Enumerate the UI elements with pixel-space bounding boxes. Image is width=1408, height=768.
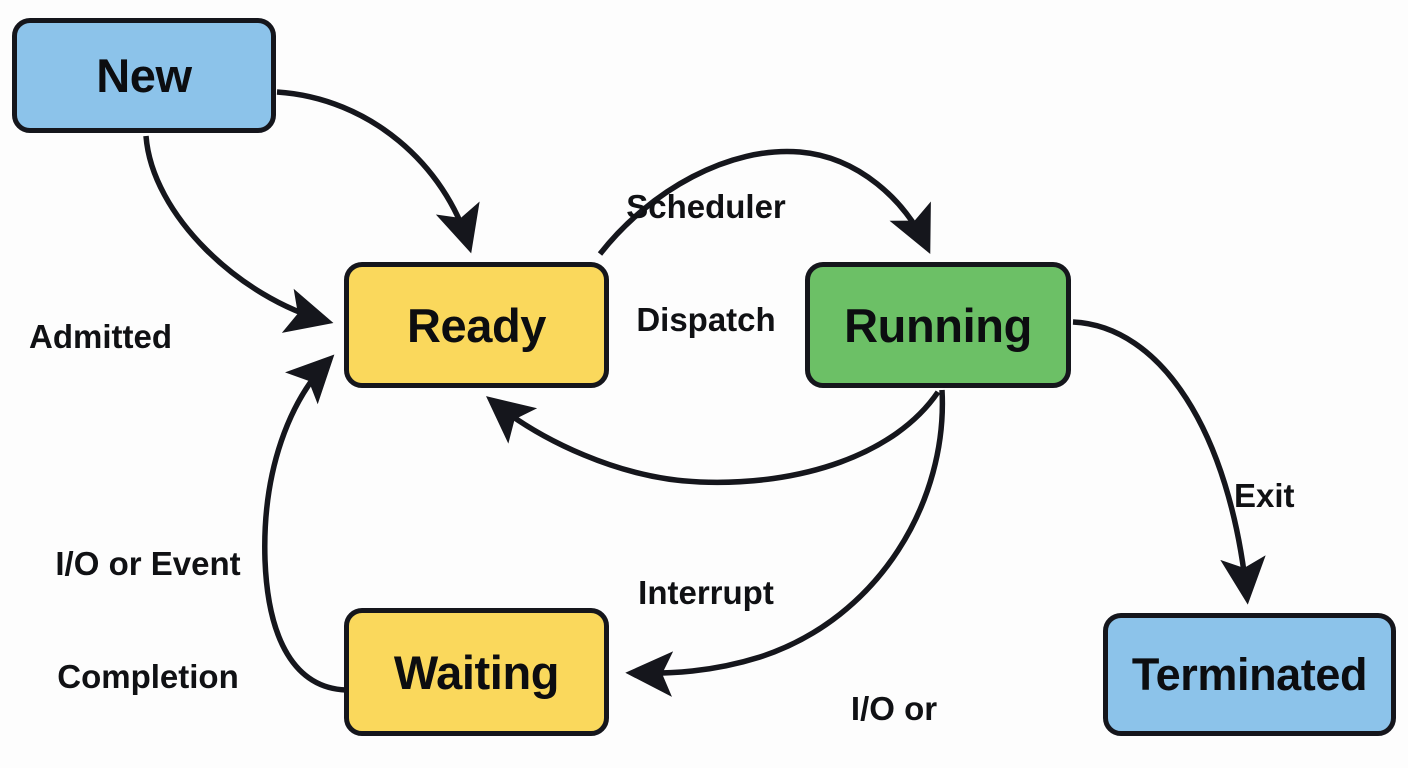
edge-label-scheduler-dispatch-line2: Dispatch (626, 301, 786, 339)
edge-label-exit: Exit (1234, 402, 1295, 590)
state-node-running-label: Running (844, 302, 1032, 349)
edge-admitted (146, 136, 326, 321)
edge-exit (1073, 322, 1247, 597)
state-node-running[interactable]: Running (805, 262, 1071, 388)
edge-label-interrupt-line1: Interrupt (638, 574, 774, 612)
edge-label-interrupt: Interrupt (638, 499, 774, 687)
edge-label-exit-line1: Exit (1234, 477, 1295, 515)
edge-label-scheduler-dispatch-line1: Scheduler (626, 188, 786, 226)
state-node-new-label: New (96, 52, 191, 99)
state-node-new[interactable]: New (12, 18, 276, 133)
state-node-terminated-label: Terminated (1132, 652, 1367, 697)
edge-label-io-event-completion-line2: Completion (55, 658, 240, 696)
edge-label-admitted: Admitted (29, 243, 172, 431)
edge-label-io-event-wait: I/O or Event Wait (810, 615, 977, 768)
edge-label-io-event-completion: I/O or Event Completion (55, 470, 240, 768)
state-node-ready-label: Ready (407, 302, 546, 349)
state-node-waiting[interactable]: Waiting (344, 608, 609, 736)
edge-label-io-event-wait-line1: I/O or (810, 690, 977, 728)
state-node-ready[interactable]: Ready (344, 262, 609, 388)
edge-new-to-ready (277, 92, 469, 246)
state-node-waiting-label: Waiting (394, 649, 559, 696)
edge-label-scheduler-dispatch: Scheduler Dispatch (626, 113, 786, 414)
state-node-terminated[interactable]: Terminated (1103, 613, 1396, 736)
edge-label-io-event-completion-line1: I/O or Event (55, 545, 240, 583)
edge-io-event-completion (265, 360, 346, 690)
edge-label-admitted-line1: Admitted (29, 318, 172, 356)
process-state-diagram: New Ready Running Waiting Terminated Sch… (0, 0, 1408, 768)
